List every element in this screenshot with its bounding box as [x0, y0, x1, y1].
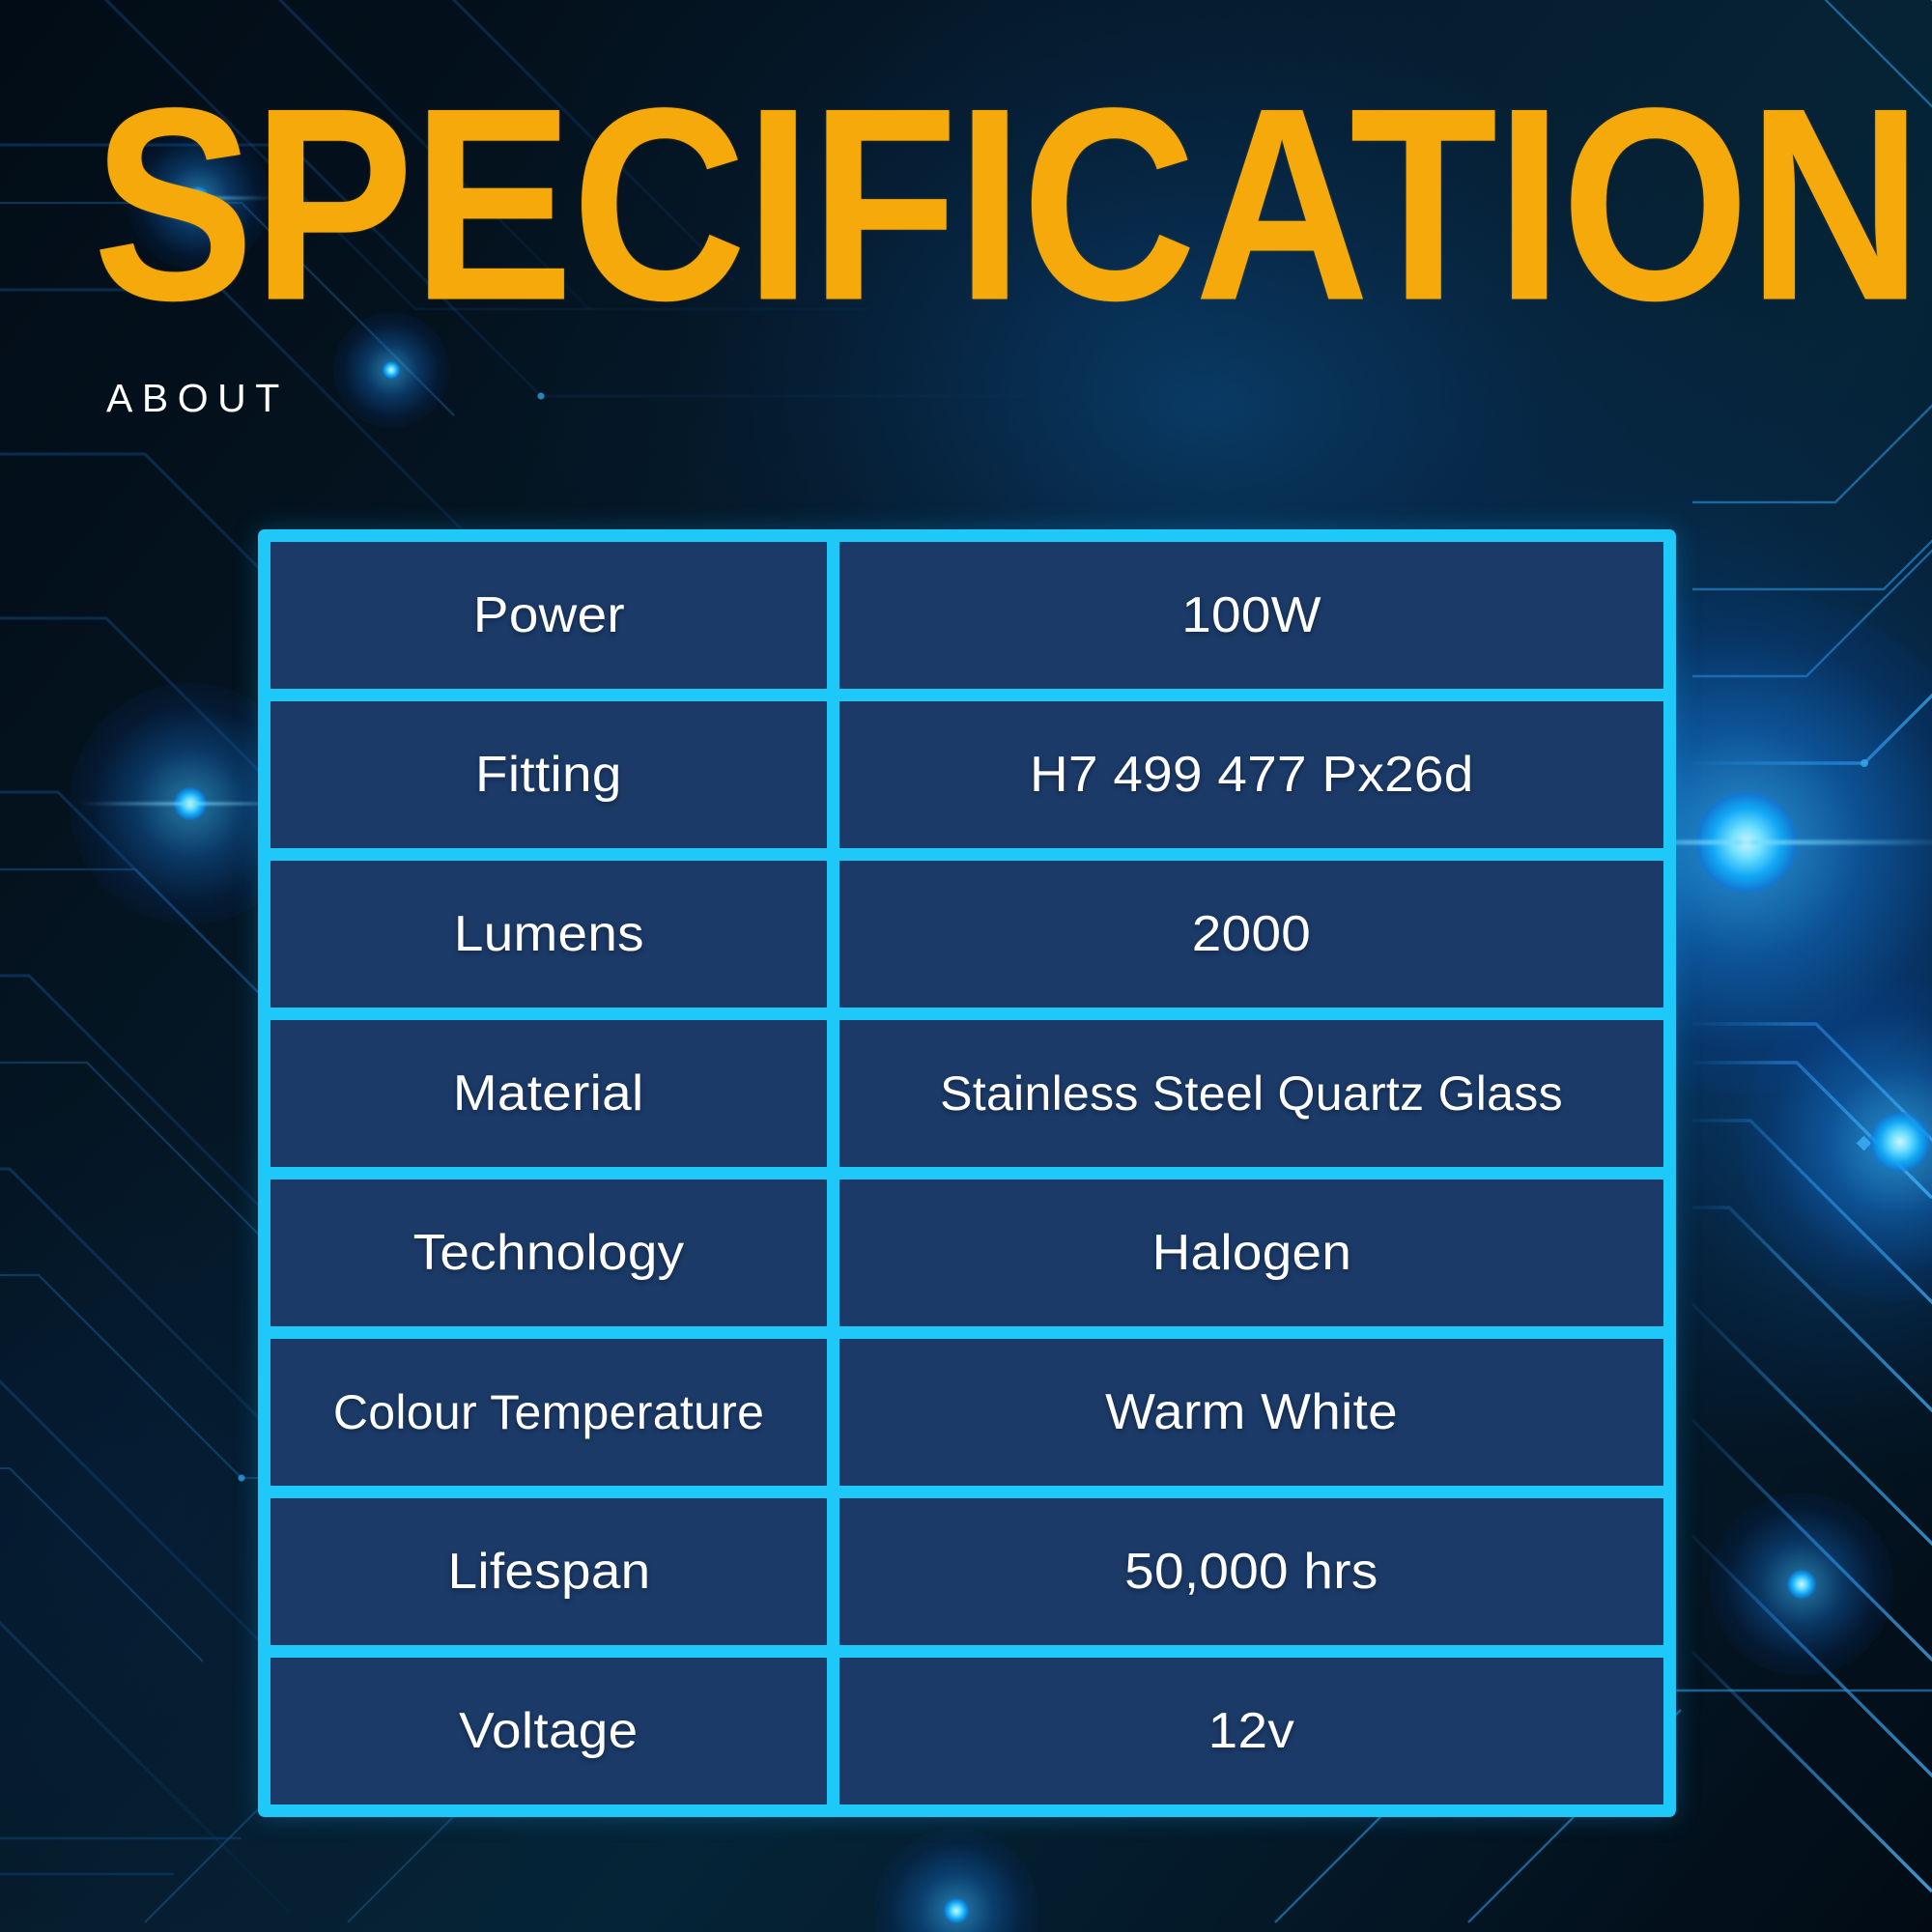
spec-label-text: Technology: [413, 1224, 685, 1282]
spec-label-cell: Power: [270, 542, 827, 689]
spec-label-cell: Lifespan: [270, 1498, 827, 1645]
spec-value-text: 2000: [1192, 905, 1311, 963]
poster-canvas: SPECIFICATION ABOUT Power100WFittingH7 4…: [0, 0, 1932, 1932]
table-row: FittingH7 499 477 Px26d: [270, 701, 1663, 848]
glow-node-core: [383, 361, 400, 379]
spec-value-cell: Stainless Steel Quartz Glass: [839, 1020, 1663, 1167]
spec-label-text: Lumens: [453, 905, 643, 963]
glow-node-core: [1870, 1112, 1930, 1172]
spec-value-cell: Halogen: [839, 1179, 1663, 1326]
spec-label-text: Voltage: [459, 1702, 638, 1760]
spec-label-text: Lifespan: [447, 1543, 650, 1601]
spec-value-cell: 100W: [839, 542, 1663, 689]
spec-label-cell: Colour Temperature: [270, 1339, 827, 1486]
spec-value-text: H7 499 477 Px26d: [1030, 746, 1474, 804]
spec-value-cell: H7 499 477 Px26d: [839, 701, 1663, 848]
specification-table: Power100WFittingH7 499 477 Px26dLumens20…: [258, 529, 1676, 1817]
spec-label-cell: Lumens: [270, 861, 827, 1008]
spec-label-cell: Voltage: [270, 1658, 827, 1804]
glow-node-core: [1787, 1570, 1816, 1599]
spec-value-cell: 2000: [839, 861, 1663, 1008]
spec-value-cell: 50,000 hrs: [839, 1498, 1663, 1645]
table-row: Colour TemperatureWarm White: [270, 1339, 1663, 1486]
table-row: MaterialStainless Steel Quartz Glass: [270, 1020, 1663, 1167]
spec-value-text: Halogen: [1151, 1224, 1351, 1282]
table-row: Lumens2000: [270, 861, 1663, 1008]
table-row: Voltage12v: [270, 1658, 1663, 1804]
spec-value-text: Stainless Steel Quartz Glass: [940, 1065, 1563, 1122]
glow-node-core: [944, 1898, 969, 1923]
spec-label-text: Fitting: [475, 746, 622, 804]
page-title: SPECIFICATION: [93, 70, 1920, 338]
spec-label-text: Material: [453, 1065, 644, 1122]
spec-label-cell: Technology: [270, 1179, 827, 1326]
table-row: Power100W: [270, 542, 1663, 689]
spec-label-text: Power: [472, 586, 624, 644]
spec-value-cell: Warm White: [839, 1339, 1663, 1486]
spec-label-cell: Material: [270, 1020, 827, 1167]
spec-value-text: 12v: [1208, 1702, 1294, 1760]
spec-value-cell: 12v: [839, 1658, 1663, 1804]
table-row: TechnologyHalogen: [270, 1179, 1663, 1326]
spec-value-text: 100W: [1181, 586, 1321, 644]
spec-value-text: Warm White: [1105, 1383, 1398, 1441]
spec-value-text: 50,000 hrs: [1124, 1543, 1378, 1601]
page-subtitle: ABOUT: [106, 376, 289, 421]
spec-label-text: Colour Temperature: [333, 1384, 764, 1440]
table-row: Lifespan50,000 hrs: [270, 1498, 1663, 1645]
spec-label-cell: Fitting: [270, 701, 827, 848]
